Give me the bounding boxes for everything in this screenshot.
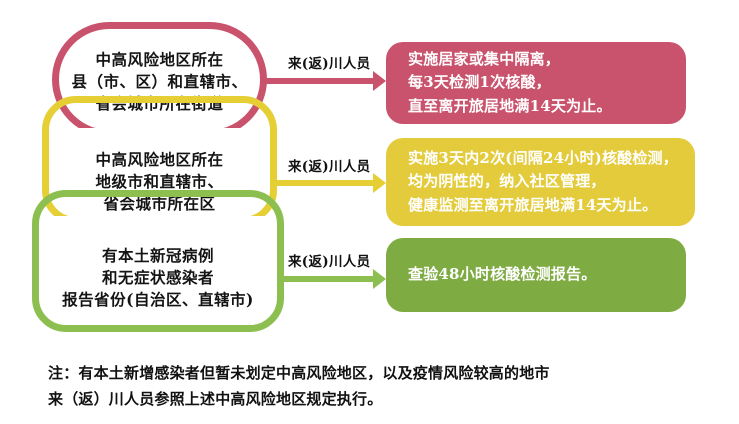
connector-label-high-risk-county: 来(返)川人员 xyxy=(288,52,370,72)
overlap-mask-lower xyxy=(46,216,274,230)
connector-label-high-risk-city: 来(返)川人员 xyxy=(288,155,370,175)
measure-panel-high-risk-city: 实施3天内2次(间隔24小时)核酸检测， 均为阴性的，纳入社区管理， 健康监测至… xyxy=(386,138,695,226)
footnote-text: 注：有本土新增感染者但暂未划定中高风险地区，以及疫情风险较高的地市 来（返）川人… xyxy=(48,360,696,413)
connector-arrow-case-province xyxy=(280,276,375,282)
arrow-head-icon xyxy=(373,71,386,91)
measure-panel-high-risk-county: 实施居家或集中隔离， 每3天检测1次核酸， 直至离开旅居地满14天为止。 xyxy=(386,42,686,124)
connector-arrow-high-risk-county xyxy=(262,78,375,84)
overlap-mask-upper xyxy=(56,128,266,142)
arrow-head-icon xyxy=(373,269,386,289)
category-box-case-province: 有本土新冠病例 和无症状感染者 报告省份(自治区、直辖市) xyxy=(32,190,284,332)
measure-text-case-province: 查验48小时核酸检测报告。 xyxy=(408,263,596,286)
connector-label-case-province: 来(返)川人员 xyxy=(288,250,370,270)
measure-text-high-risk-county: 实施居家或集中隔离， 每3天检测1次核酸， 直至离开旅居地满14天为止。 xyxy=(408,48,612,118)
diagram-canvas: 中高风险地区所在 县（市、区）和直辖市、 省会城市所在街道 中高风险地区所在 地… xyxy=(0,0,739,424)
category-label-case-province: 有本土新冠病例 和无症状感染者 报告省份(自治区、直辖市) xyxy=(39,245,277,311)
connector-arrow-high-risk-city xyxy=(272,180,375,186)
arrow-head-icon xyxy=(373,173,386,193)
measure-text-high-risk-city: 实施3天内2次(间隔24小时)核酸检测， 均为阴性的，纳入社区管理， 健康监测至… xyxy=(408,147,678,217)
measure-panel-case-province: 查验48小时核酸检测报告。 xyxy=(386,238,686,312)
